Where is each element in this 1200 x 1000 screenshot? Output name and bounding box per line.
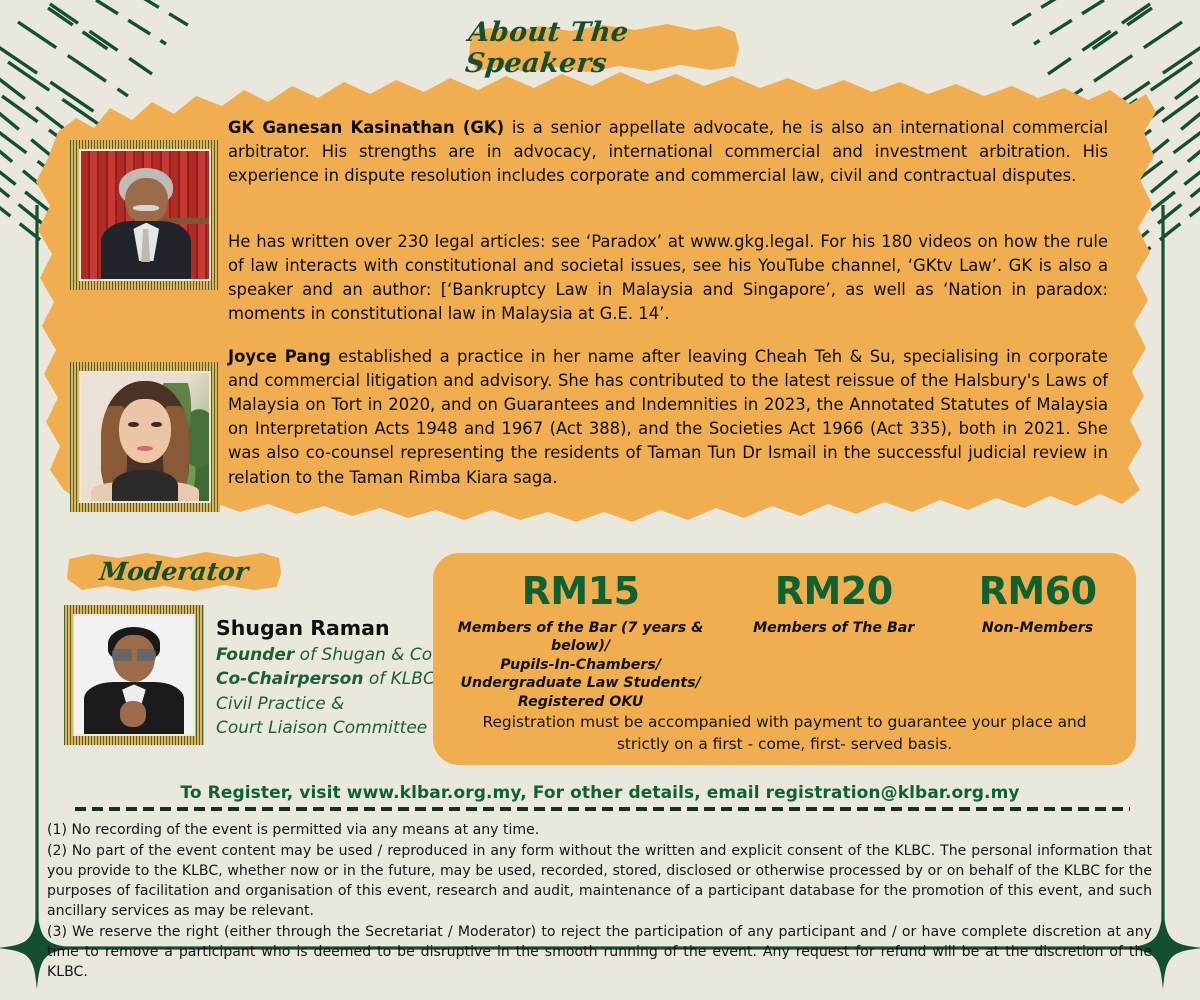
footer-item-3: (3) We reserve the right (either through…: [47, 922, 1152, 982]
shugan-raman-photo: [64, 605, 204, 745]
speaker-name-joyce: Joyce Pang: [228, 347, 331, 366]
moderator-role-2-rest: of KLBC: [363, 669, 434, 689]
pricing-note: Registration must be accompanied with pa…: [467, 711, 1102, 756]
speaker-name-gk: GK Ganesan Kasinathan (GK): [228, 118, 504, 137]
speaker-bio-joyce-body: established a practice in her name after…: [228, 347, 1108, 487]
photo-frame-border: [70, 362, 220, 512]
moderator-banner-label: Moderator: [63, 549, 284, 593]
pricing-description-3: Non-Members: [939, 619, 1136, 637]
about-speakers-banner: About The Speakers: [467, 22, 740, 74]
footer-disclaimer: (1) No recording of the event is permitt…: [47, 820, 1152, 983]
speaker-bio-joyce-paragraph: Joyce Pang established a practice in her…: [228, 345, 1108, 490]
footer-item-1: (1) No recording of the event is permitt…: [47, 820, 1152, 840]
registration-line[interactable]: To Register, visit www.klbar.org.my, For…: [0, 783, 1200, 803]
speaker-bio-gk-paragraph-2: He has written over 230 legal articles: …: [228, 230, 1108, 326]
moderator-role-2-bold: Co-Chairperson: [216, 669, 363, 689]
pricing-tier-2: RM20 Members of The Bar: [728, 571, 939, 711]
photo-frame-border: [70, 140, 220, 290]
photo-frame-border: [64, 605, 204, 745]
pricing-description-1: Members of the Bar (7 years & below)/ Pu…: [433, 619, 728, 711]
pricing-card: RM15 Members of the Bar (7 years & below…: [433, 553, 1136, 765]
pricing-amount-1: RM15: [433, 571, 728, 613]
joyce-pang-photo: [70, 362, 220, 512]
pricing-amount-2: RM20: [728, 571, 939, 613]
speaker-bio-gk-paragraph-1: GK Ganesan Kasinathan (GK) is a senior a…: [228, 116, 1108, 188]
poster-canvas: About The Speakers GK Ganesan Kasinathan…: [0, 0, 1200, 1000]
gk-ganesan-kasinathan-photo: [70, 140, 220, 290]
dashed-divider: [75, 807, 1130, 811]
pricing-description-2: Members of The Bar: [728, 619, 939, 637]
footer-item-2: (2) No part of the event content may be …: [47, 841, 1152, 921]
moderator-role-1-bold: Founder: [216, 645, 294, 665]
moderator-banner: Moderator: [66, 549, 282, 593]
moderator-role-1-rest: of Shugan & Co.: [294, 645, 437, 665]
pricing-tier-3: RM60 Non-Members: [939, 571, 1136, 711]
about-speakers-title: About The Speakers: [464, 22, 742, 74]
pricing-amount-3: RM60: [939, 571, 1136, 613]
pricing-tier-1: RM15 Members of the Bar (7 years & below…: [433, 571, 728, 711]
